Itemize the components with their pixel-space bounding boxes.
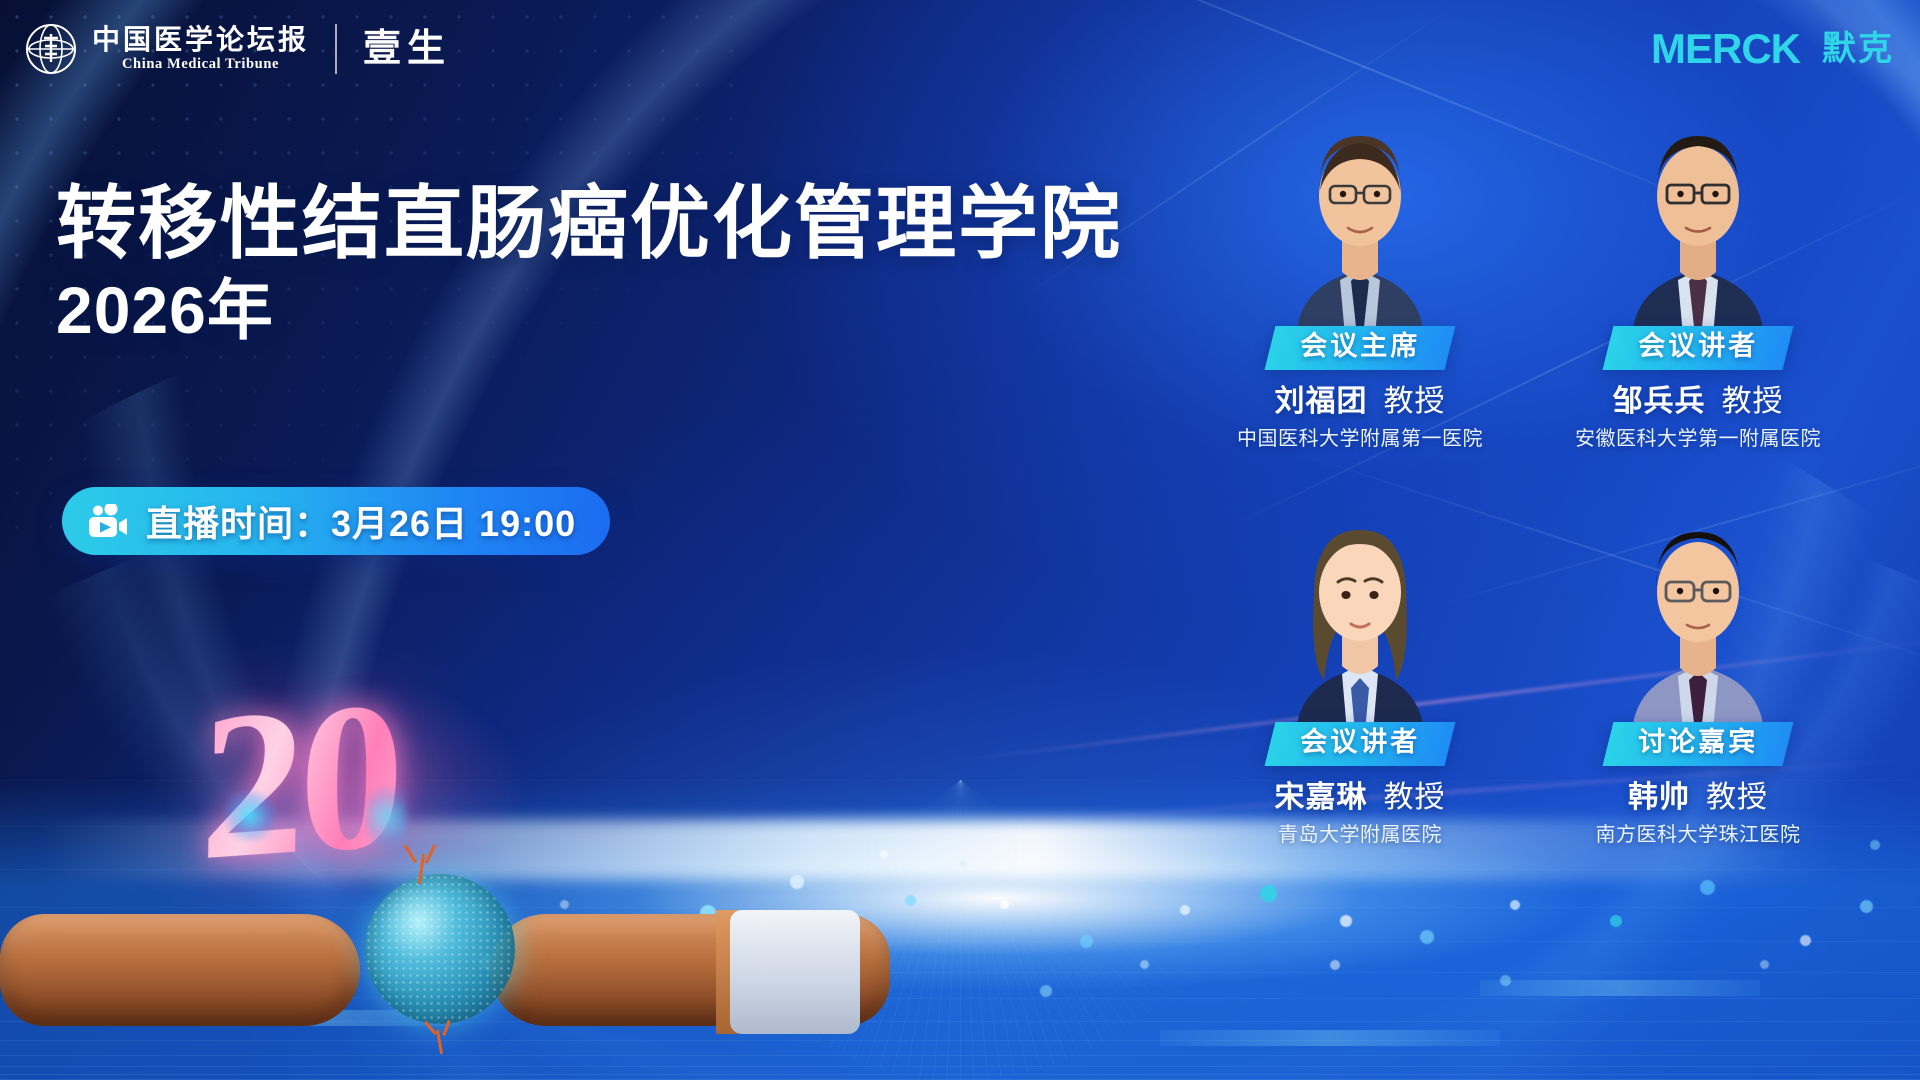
speaker-card-3: 讨论嘉宾 韩帅教授 南方医科大学珠江医院 <box>1528 482 1868 848</box>
cyan-light-flick-2 <box>366 778 408 856</box>
speaker-title: 教授 <box>1722 385 1784 418</box>
speaker-organization: 南方医科大学珠江医院 <box>1528 822 1868 848</box>
speaker-role-badge: 会议讲者 <box>1265 722 1456 766</box>
speaker-organization: 安徽医科大学第一附属医院 <box>1528 426 1868 452</box>
anniversary-artwork: 20 <box>170 680 730 1080</box>
avatar <box>1260 482 1460 732</box>
speaker-role-badge: 讨论嘉宾 <box>1603 722 1794 766</box>
live-time-badge: 直播时间：3月26日 19:00 <box>62 487 610 555</box>
promo-poster: 中国医学论坛报 China Medical Tribune 壹生 MERCK 默… <box>0 0 1920 1080</box>
fist-left <box>0 914 360 1026</box>
speaker-name-row: 韩帅教授 <box>1528 780 1868 816</box>
publisher-logo: 中国医学论坛报 China Medical Tribune 壹生 <box>24 22 451 76</box>
speaker-name: 宋嘉琳 <box>1275 781 1368 814</box>
page-title: 转移性结直肠癌优化管理学院 <box>56 182 1122 266</box>
speaker-role-text: 讨论嘉宾 <box>1638 727 1758 759</box>
speaker-card-1: 会议讲者 邹兵兵教授 安徽医科大学第一附属医院 <box>1528 86 1868 452</box>
publisher-name-en: China Medical Tribune <box>122 57 279 72</box>
speaker-name-row: 宋嘉琳教授 <box>1190 780 1530 816</box>
speaker-title: 教授 <box>1384 781 1446 814</box>
avatar <box>1598 482 1798 732</box>
sleeve-cuff-right <box>730 910 860 1034</box>
avatar <box>1598 86 1798 336</box>
speaker-card-0: 会议主席 刘福团教授 中国医科大学附属第一医院 <box>1190 86 1530 452</box>
logo-divider <box>335 24 337 74</box>
speakers-grid: 会议主席 刘福团教授 中国医科大学附属第一医院 <box>1180 86 1900 896</box>
sponsor-logo: MERCK 默克 <box>1651 28 1894 70</box>
speaker-role-text: 会议讲者 <box>1638 331 1758 363</box>
avatar <box>1260 86 1460 336</box>
speaker-role-text: 会议讲者 <box>1300 727 1420 759</box>
speaker-name: 邹兵兵 <box>1613 385 1706 418</box>
speaker-card-2: 会议讲者 宋嘉琳教授 青岛大学附属医院 <box>1190 482 1530 848</box>
video-camera-icon <box>86 504 128 538</box>
speaker-role-badge: 会议讲者 <box>1603 326 1794 370</box>
speaker-name: 刘福团 <box>1275 385 1368 418</box>
speaker-title: 教授 <box>1384 385 1446 418</box>
speaker-name-row: 邹兵兵教授 <box>1528 384 1868 420</box>
poster-title-block: 转移性结直肠癌优化管理学院 2026年 <box>56 182 1122 350</box>
anniversary-number: 20 <box>198 660 521 913</box>
speaker-organization: 中国医科大学附属第一医院 <box>1190 426 1530 452</box>
speaker-title: 教授 <box>1706 781 1768 814</box>
speaker-name: 韩帅 <box>1628 781 1690 814</box>
speaker-organization: 青岛大学附属医院 <box>1190 822 1530 848</box>
cyan-light-flick-1 <box>220 790 280 842</box>
sub-brand-name: 壹生 <box>363 30 451 68</box>
merck-name-cn: 默克 <box>1822 32 1894 66</box>
speaker-role-text: 会议主席 <box>1300 331 1420 363</box>
live-time-text: 直播时间：3月26日 19:00 <box>146 495 576 547</box>
speaker-name-row: 刘福团教授 <box>1190 384 1530 420</box>
page-subtitle-year: 2026年 <box>56 272 1122 350</box>
tumor-cell-sphere <box>365 874 515 1024</box>
publisher-name-cn: 中国医学论坛报 <box>92 27 309 55</box>
globe-icon <box>24 22 78 76</box>
merck-wordmark: MERCK <box>1651 28 1800 70</box>
speaker-role-badge: 会议主席 <box>1265 326 1456 370</box>
